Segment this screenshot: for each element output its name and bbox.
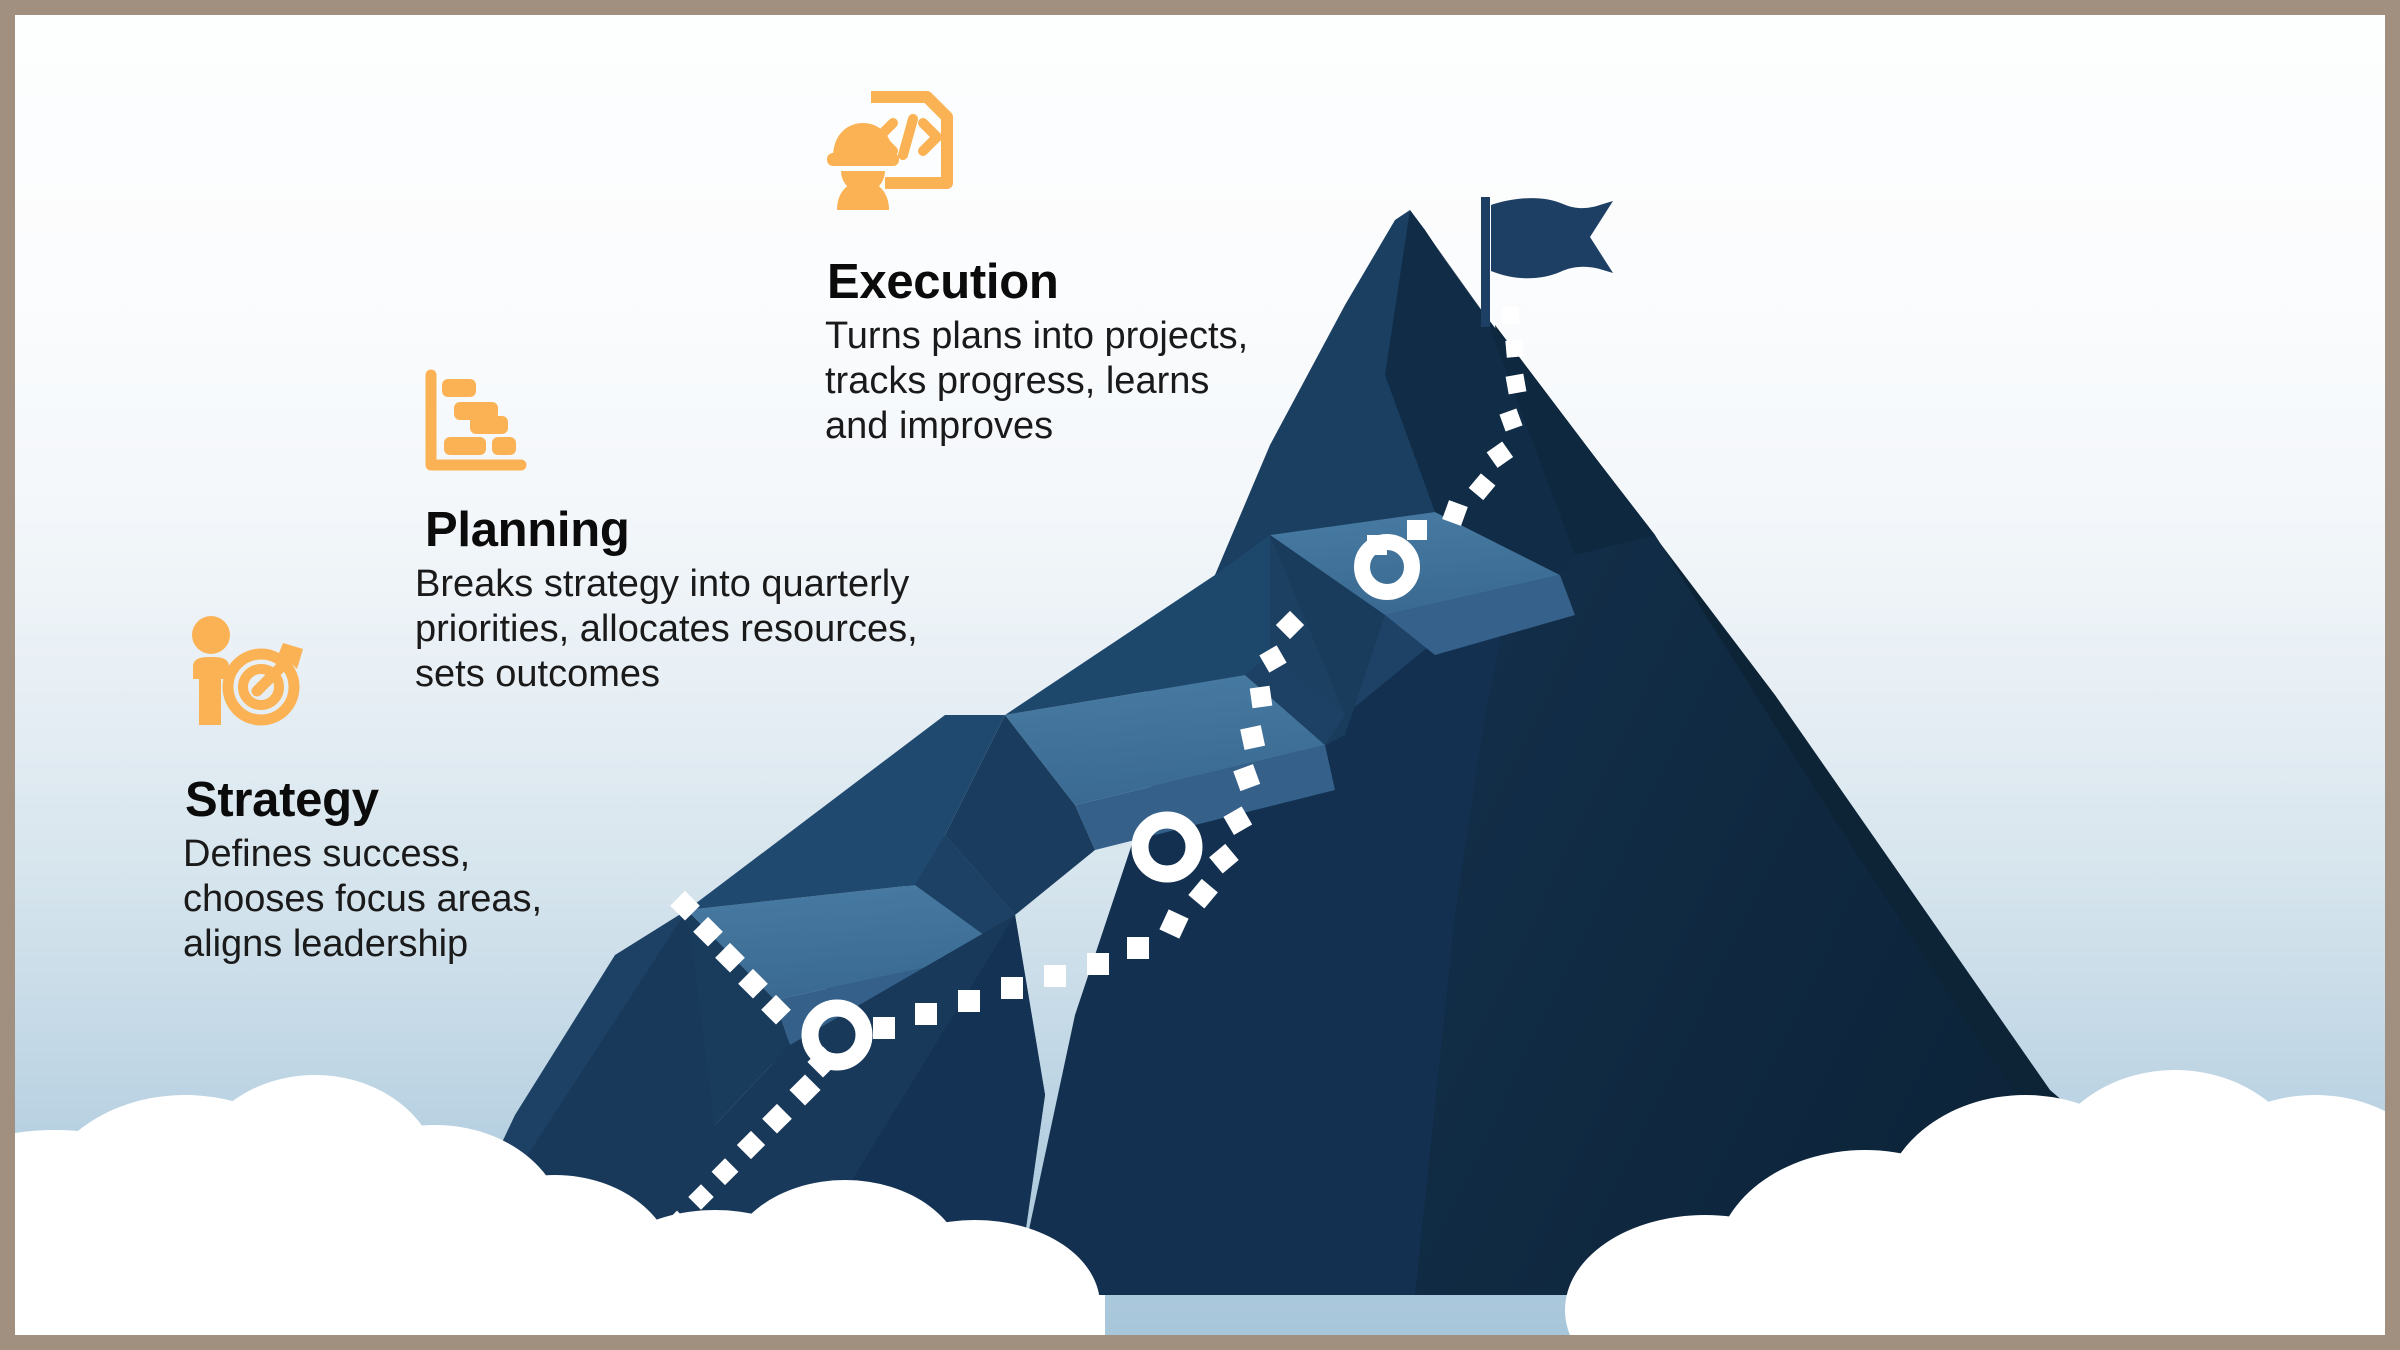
poster-frame: Strategy Defines success, chooses focus … — [0, 0, 2400, 1350]
poster-canvas: Strategy Defines success, chooses focus … — [15, 15, 2385, 1335]
stage-title-planning: Planning — [425, 505, 918, 556]
stage-title-strategy: Strategy — [185, 775, 542, 826]
stage-block-planning: Planning Breaks strategy into quarterly … — [415, 505, 918, 697]
person-target-icon — [183, 613, 313, 731]
stage-description-strategy: Defines success, chooses focus areas, al… — [183, 832, 542, 966]
stage-description-planning: Breaks strategy into quarterly prioritie… — [415, 562, 918, 696]
stage-title-execution: Execution — [827, 257, 1248, 308]
gantt-chart-icon — [420, 367, 528, 475]
summit-flag-icon — [1481, 197, 1613, 327]
mountain-illustration — [15, 15, 2385, 1335]
engineer-code-icon — [815, 85, 965, 210]
stage-block-execution: Execution Turns plans into projects, tra… — [825, 257, 1248, 449]
stage-block-strategy: Strategy Defines success, chooses focus … — [183, 775, 542, 967]
stage-description-execution: Turns plans into projects, tracks progre… — [825, 314, 1248, 448]
